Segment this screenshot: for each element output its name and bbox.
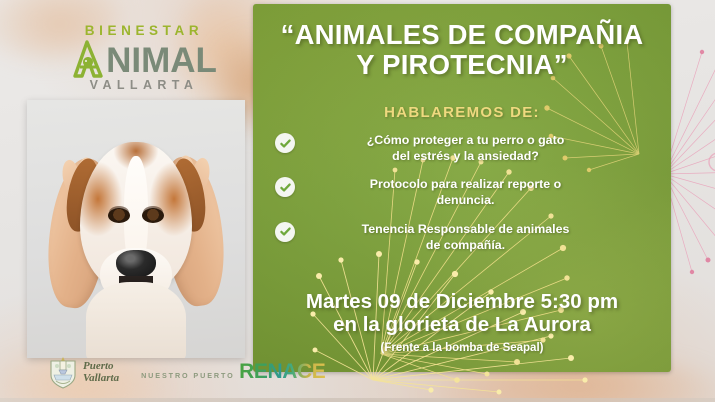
subtitle-hablaremos: HABLAREMOS DE: bbox=[253, 104, 671, 121]
renace-kicker: NUESTRO PUERTO bbox=[139, 371, 235, 380]
list-item: ¿Cómo proteger a tu perro o gato del est… bbox=[275, 132, 649, 164]
dog-photo bbox=[27, 100, 245, 358]
check-circle-icon bbox=[275, 222, 295, 242]
dog-illustration bbox=[54, 124, 218, 358]
city-logo-text: Puerto Vallarta bbox=[83, 360, 119, 385]
list-item: Tenencia Responsable de animales de comp… bbox=[275, 221, 649, 253]
dog-head bbox=[80, 142, 192, 292]
city-logo-line-1: Puerto bbox=[83, 360, 114, 372]
event-place-line: en la glorieta de La Aurora bbox=[333, 313, 591, 336]
list-item: Protocolo para realizar reporte o denunc… bbox=[275, 176, 649, 208]
event-datetime: Martes 09 de Diciembre 5:30 pm en la glo… bbox=[253, 290, 671, 337]
bullet-1-line-1: ¿Cómo proteger a tu perro o gato bbox=[367, 133, 565, 147]
puerto-vallarta-coat-of-arms-icon bbox=[48, 355, 78, 389]
check-circle-icon bbox=[275, 133, 295, 153]
brand-line-animal: NIMAL bbox=[58, 40, 230, 78]
bullet-3-line-1: Tenencia Responsable de animales bbox=[362, 222, 570, 236]
check-circle-icon bbox=[275, 177, 295, 197]
brand-line-bienestar: BIENESTAR bbox=[58, 24, 230, 38]
dog-neck bbox=[86, 282, 186, 358]
event-location-note: (Frente a la bomba de Seapal) bbox=[253, 342, 671, 354]
renace-logo: NUESTRO PUERTO RENACE bbox=[139, 362, 325, 383]
dog-eye-left bbox=[108, 208, 130, 223]
dog-head-in-letter-a-icon bbox=[71, 40, 105, 78]
city-logo-line-2: Vallarta bbox=[83, 372, 119, 384]
footer-logos: Puerto Vallarta NUESTRO PUERTO RENACE bbox=[48, 352, 248, 392]
dog-nose bbox=[116, 250, 156, 278]
brand-logo: BIENESTAR NIMAL VALLARTA bbox=[58, 24, 230, 91]
bottom-edge-strip bbox=[0, 398, 715, 402]
topic-list: ¿Cómo proteger a tu perro o gato del est… bbox=[275, 132, 649, 253]
title-line-1: “ANIMALES DE COMPAÑIA bbox=[281, 19, 644, 50]
list-item-text: Tenencia Responsable de animales de comp… bbox=[304, 221, 649, 253]
list-item-text: ¿Cómo proteger a tu perro o gato del est… bbox=[304, 132, 649, 164]
dog-eye-right bbox=[142, 208, 164, 223]
bullet-2-line-2: denuncia. bbox=[437, 193, 495, 207]
event-date-line: Martes 09 de Diciembre 5:30 pm bbox=[306, 290, 618, 313]
poster-canvas: BIENESTAR NIMAL VALLARTA bbox=[0, 0, 715, 402]
renace-wordmark: RENACE bbox=[239, 360, 325, 383]
bullet-1-line-2: del estrés y la ansiedad? bbox=[392, 149, 539, 163]
brand-animal-text: NIMAL bbox=[106, 45, 217, 77]
title-line-2: Y PIROTECNIA” bbox=[253, 50, 671, 80]
bullet-3-line-2: de compañía. bbox=[426, 238, 505, 252]
bullet-2-line-1: Protocolo para realizar reporte o bbox=[370, 177, 561, 191]
dog-photo-card bbox=[27, 100, 245, 358]
brand-line-vallarta: VALLARTA bbox=[58, 79, 230, 92]
list-item-text: Protocolo para realizar reporte o denunc… bbox=[304, 176, 649, 208]
page-title: “ANIMALES DE COMPAÑIA Y PIROTECNIA” bbox=[253, 20, 671, 79]
